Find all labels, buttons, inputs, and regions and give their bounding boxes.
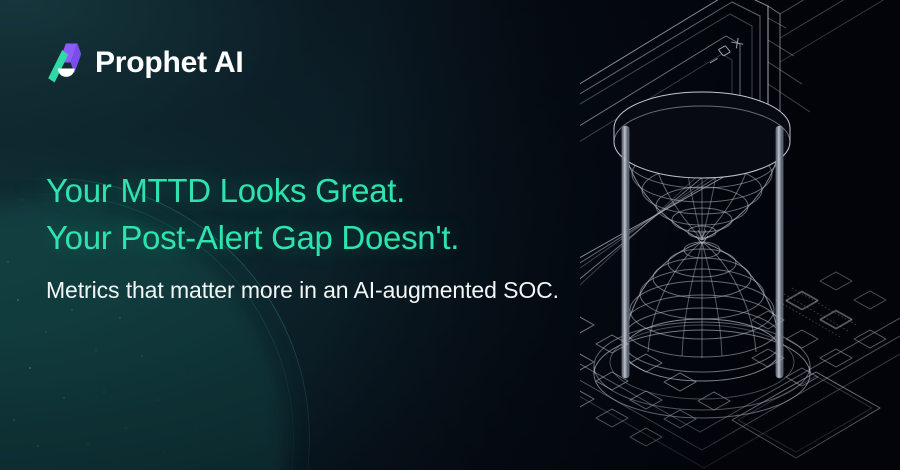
headline-line-2: Your Post-Alert Gap Doesn't. (46, 215, 559, 262)
brand-logo[interactable]: Prophet AI (44, 42, 244, 84)
hero-banner: Prophet AI Your MTTD Looks Great. Your P… (0, 0, 900, 470)
subheadline: Metrics that matter more in an AI-augmen… (46, 275, 559, 306)
brand-name: Prophet AI (95, 46, 244, 80)
headline-line-1: Your MTTD Looks Great. (46, 168, 559, 215)
prophet-ai-logo-mark-icon (44, 42, 82, 84)
hero-copy: Your MTTD Looks Great. Your Post-Alert G… (46, 168, 559, 306)
